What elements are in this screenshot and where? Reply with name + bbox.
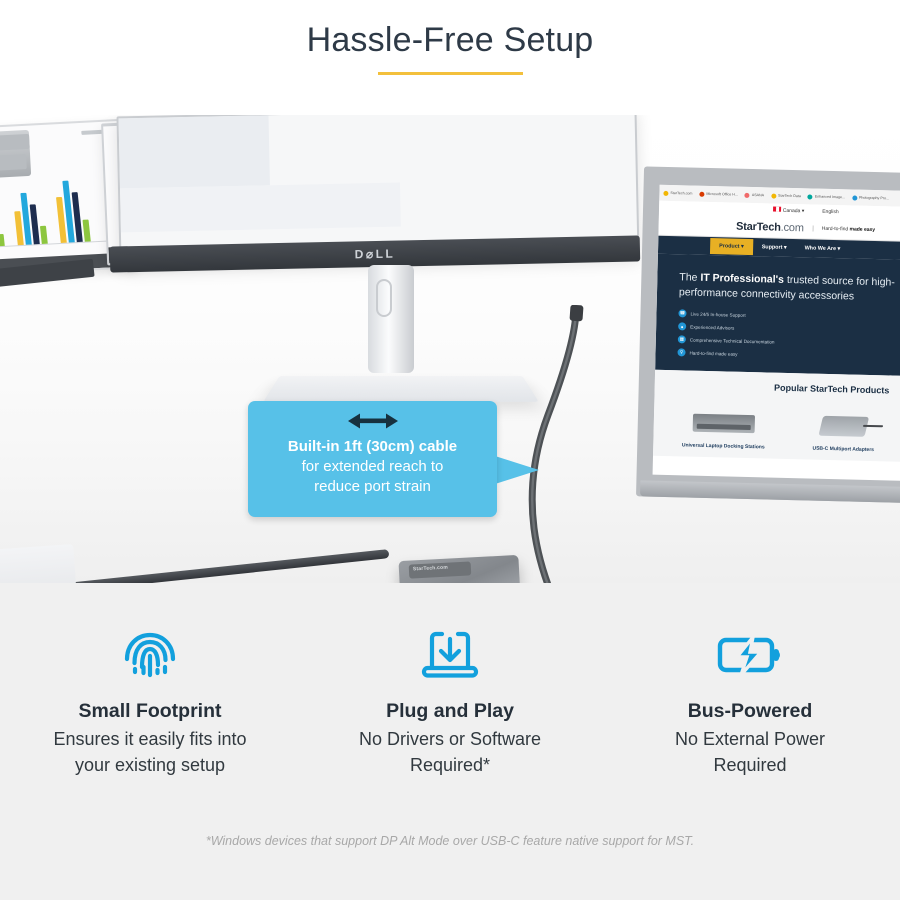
bookmark-item[interactable]: StarTech Data <box>771 193 801 199</box>
bookmark-label: Photography Pro... <box>859 196 889 201</box>
feature-bus-powered: Bus-Powered No External Power Required <box>600 627 900 778</box>
feature-desc-line1: Ensures it easily fits into <box>18 727 282 753</box>
hero-feature-label: Hard-to-find made easy <box>689 350 737 356</box>
product-infographic-page: Hassle-Free Setup <box>0 0 900 900</box>
usbc-cable <box>510 305 630 583</box>
hero-feature-item: ▦ Comprehensive Technical Documentation <box>678 336 826 348</box>
hero-text-line2: performance connectivity accessories <box>679 286 854 302</box>
product-card[interactable]: USB-C Multiport Adapters <box>797 408 890 454</box>
product-photo: D⌀LL StarTech.com Microsoft Office H... <box>0 115 900 583</box>
product-label: USB-C Multiport Adapters <box>797 446 889 454</box>
laptop-edge-left <box>0 544 79 583</box>
bookmark-item[interactable]: Enhanced Image... <box>808 194 845 200</box>
screen-content-block <box>120 183 401 233</box>
language-selector[interactable]: English <box>822 208 839 214</box>
person-icon: ● <box>678 323 686 331</box>
features-row: Small Footprint Ensures it easily fits i… <box>0 583 900 778</box>
bookmark-item[interactable]: Photography Pro... <box>852 195 889 201</box>
bar-group <box>12 192 47 245</box>
hero-feature-list: ☎ Live 24/5 In-house Support ● Experienc… <box>677 310 900 364</box>
feature-title: Plug and Play <box>318 700 582 723</box>
hero-heading: The IT Professional's trusted source for… <box>679 270 900 307</box>
callout-line-2: for extended reach to <box>302 457 444 477</box>
monitor-stand-base <box>263 376 539 402</box>
feature-plug-and-play: Plug and Play No Drivers or Software Req… <box>300 627 600 778</box>
feature-desc-line1: No External Power <box>618 727 882 753</box>
monitor-stand-neck <box>368 265 414 373</box>
hub-port-side <box>0 130 31 178</box>
dell-logo: D⌀LL <box>355 247 396 262</box>
page-header: Hassle-Free Setup <box>0 0 900 115</box>
phone-icon: ☎ <box>678 310 686 318</box>
brand-suffix: .com <box>781 221 804 234</box>
feature-title: Small Footprint <box>18 700 282 723</box>
page-title: Hassle-Free Setup <box>307 22 594 59</box>
nav-item-product[interactable]: Product ▾ <box>710 238 753 255</box>
country-selector[interactable]: Canada ▾ <box>773 207 804 215</box>
bookmark-item[interactable]: Microsoft Office H... <box>699 191 738 197</box>
chevron-down-icon: ▾ <box>802 208 805 214</box>
bookmark-label: Enhanced Image... <box>815 195 845 200</box>
laptop-download-icon <box>318 627 582 683</box>
product-card[interactable]: Universal Laptop Docking Stations <box>677 405 770 451</box>
docking-station-icon <box>677 405 770 443</box>
laptop-screen: StarTech.com Microsoft Office H... ASANA… <box>653 185 900 482</box>
hero-text-c: trusted source for high- <box>784 274 895 289</box>
hero-feature-label: Live 24/5 In-house Support <box>690 312 745 318</box>
bookmark-label: ASANA <box>752 193 764 197</box>
bookmark-item[interactable]: StarTech.com <box>663 190 692 196</box>
doc-icon: ▦ <box>678 336 686 344</box>
product-label: Universal Laptop Docking Stations <box>677 443 769 451</box>
hero-feature-item: ☎ Live 24/5 In-house Support <box>678 310 826 322</box>
nav-label: Who We Are <box>805 245 837 252</box>
hub-port <box>0 154 27 171</box>
fingerprint-icon <box>18 627 282 683</box>
screen-content-block <box>119 115 270 188</box>
chart-bars <box>0 180 91 248</box>
feature-title: Bus-Powered <box>618 700 882 723</box>
tagline-plain: Hard-to-find <box>822 225 850 232</box>
popular-products-section: Popular StarTech Products Universal Lapt… <box>653 370 900 463</box>
bar-group <box>54 180 90 243</box>
bookmark-label: StarTech Data <box>778 194 801 199</box>
nav-item-support[interactable]: Support ▾ <box>753 239 796 256</box>
feature-desc-line1: No Drivers or Software <box>318 727 582 753</box>
feature-desc-line2: your existing setup <box>18 753 282 779</box>
tagline-bold: made easy <box>849 226 875 233</box>
feature-small-footprint: Small Footprint Ensures it easily fits i… <box>0 627 300 778</box>
nav-label: Support <box>762 244 783 251</box>
feature-desc-line2: Required <box>618 753 882 779</box>
callout-pointer <box>495 456 539 484</box>
country-label: Canada <box>783 208 801 214</box>
site-hero: The IT Professional's trusted source for… <box>655 254 900 378</box>
hub-port <box>0 134 30 151</box>
double-arrow-icon <box>348 411 398 431</box>
hero-feature-label: Comprehensive Technical Documentation <box>690 337 775 344</box>
hero-feature-item: ● Experienced Advisors <box>678 323 826 335</box>
laptop: StarTech.com Microsoft Office H... ASANA… <box>636 166 900 503</box>
feature-desc-line2: Required* <box>318 753 582 779</box>
nav-label: Product <box>719 243 740 249</box>
startech-logo[interactable]: StarTech.com <box>736 220 804 234</box>
hero-feature-item: ⚲ Hard-to-find made easy <box>677 349 825 361</box>
features-section: Small Footprint Ensures it easily fits i… <box>0 583 900 900</box>
title-underline-rule <box>378 72 523 75</box>
callout-line-1: Built-in 1ft (30cm) cable <box>288 437 457 457</box>
brand-tagline: Hard-to-find made easy <box>813 225 876 233</box>
callout-bubble: Built-in 1ft (30cm) cable for extended r… <box>248 401 497 517</box>
hero-feature-label: Experienced Advisors <box>690 324 734 330</box>
canada-flag-icon <box>773 207 781 212</box>
bookmark-label: StarTech.com <box>670 191 692 196</box>
multiport-adapter-icon <box>797 408 890 446</box>
brand-name: StarTech <box>736 220 781 233</box>
footnote-text: *Windows devices that support DP Alt Mod… <box>0 834 900 848</box>
usbc-connector <box>569 305 583 321</box>
bookmark-label: Microsoft Office H... <box>706 192 738 197</box>
hero-text-a: The <box>679 271 700 284</box>
bookmark-item[interactable]: ASANA <box>745 192 764 197</box>
nav-item-who-we-are[interactable]: Who We Are ▾ <box>795 240 849 257</box>
search-icon: ⚲ <box>677 349 685 357</box>
callout-line-3: reduce port strain <box>314 477 431 497</box>
battery-bolt-icon <box>618 627 882 683</box>
hero-text-b: IT Professional's <box>700 272 784 286</box>
bar-group <box>0 208 5 247</box>
popular-products-list: Universal Laptop Docking Stations USB-C … <box>653 390 900 455</box>
